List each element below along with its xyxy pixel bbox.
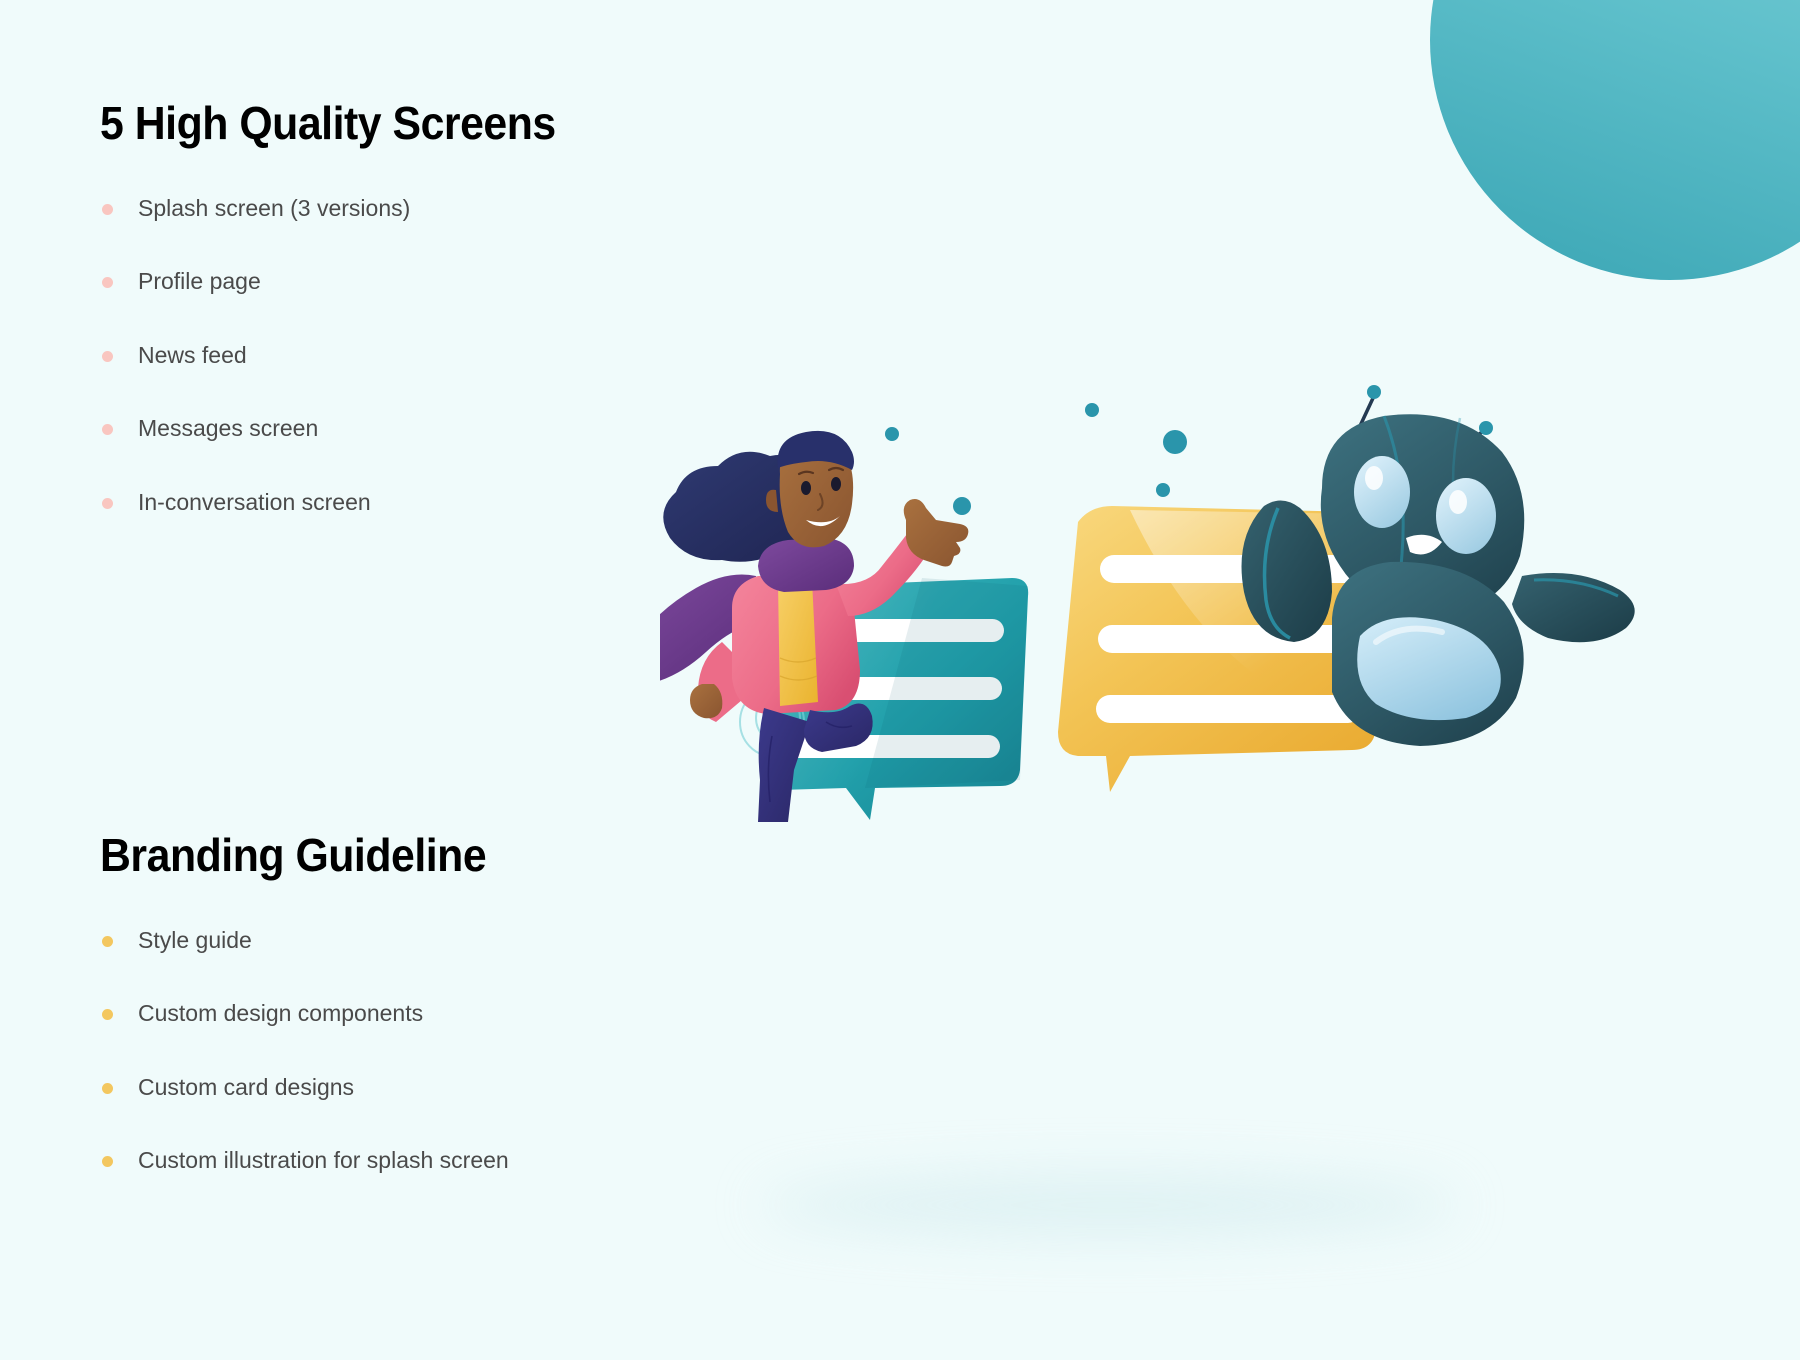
list-item: Splash screen (3 versions): [100, 195, 800, 223]
bullet-dot-icon: [102, 1156, 113, 1167]
list-item-label: Custom illustration for splash screen: [138, 1147, 509, 1173]
bullet-dot-icon: [102, 424, 113, 435]
accent-dot: [1156, 483, 1170, 497]
page-title-branding: Branding Guideline: [100, 830, 751, 881]
bullet-dot-icon: [102, 498, 113, 509]
list-item-label: Profile page: [138, 268, 261, 294]
list-item-label: Messages screen: [138, 415, 318, 441]
bullet-dot-icon: [102, 1009, 113, 1020]
accent-dot: [953, 497, 971, 515]
shirt: [778, 580, 818, 706]
hero-illustration: [660, 370, 1660, 870]
accent-dot: [1163, 430, 1187, 454]
list-item: News feed: [100, 342, 800, 370]
accent-dots: [885, 403, 1187, 515]
bullet-dot-icon: [102, 204, 113, 215]
list-item: Custom design components: [100, 1000, 800, 1028]
list-item-label: Custom design components: [138, 1000, 423, 1026]
page-title-screens: 5 High Quality Screens: [100, 98, 751, 149]
antenna-tip-right: [1479, 421, 1493, 435]
eye-right: [831, 477, 841, 491]
eye-left: [801, 481, 811, 495]
list-item: Profile page: [100, 268, 800, 296]
accent-dot: [1085, 403, 1099, 417]
accent-dot: [885, 427, 899, 441]
list-item: Custom illustration for splash screen: [100, 1147, 800, 1175]
branding-feature-list: Style guide Custom design components Cus…: [100, 927, 800, 1175]
bullet-dot-icon: [102, 277, 113, 288]
list-item-label: News feed: [138, 342, 247, 368]
list-item-label: Style guide: [138, 927, 252, 953]
list-item-label: In-conversation screen: [138, 489, 371, 515]
list-item-label: Custom card designs: [138, 1074, 354, 1100]
section-branding: Branding Guideline Style guide Custom de…: [100, 830, 800, 1175]
antenna-tip-left: [1367, 385, 1381, 399]
bullet-dot-icon: [102, 1083, 113, 1094]
list-item-label: Splash screen (3 versions): [138, 195, 410, 221]
bullet-dot-icon: [102, 936, 113, 947]
list-item: Custom card designs: [100, 1074, 800, 1102]
robot-eye-right: [1436, 478, 1496, 554]
floor-shadow: [760, 1175, 1460, 1235]
decorative-circle-top-right: [1430, 0, 1800, 280]
robot-eye-left: [1354, 456, 1410, 528]
list-item: Style guide: [100, 927, 800, 955]
bullet-dot-icon: [102, 351, 113, 362]
left-hand: [690, 684, 722, 718]
